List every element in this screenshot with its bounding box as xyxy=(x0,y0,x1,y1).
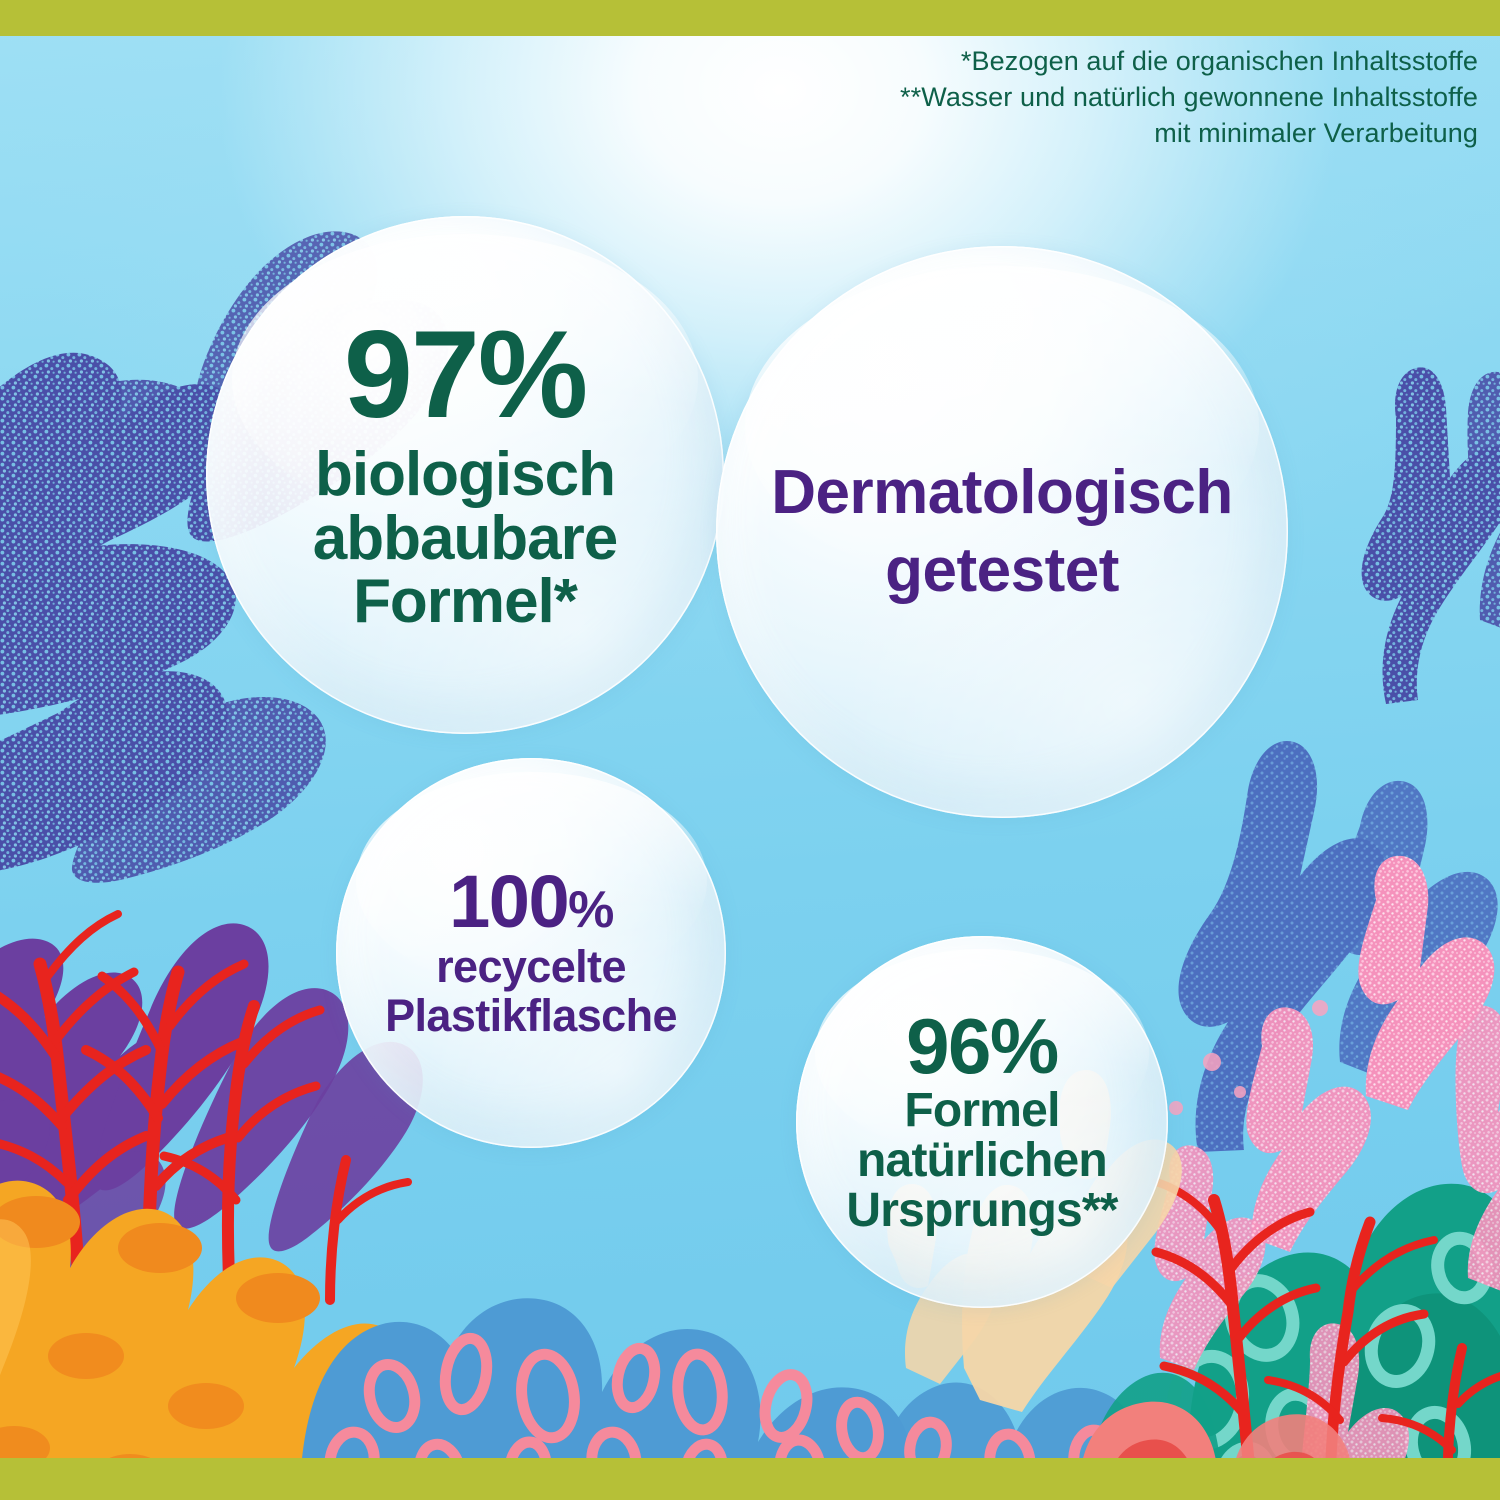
claim-subline-recycled-bottle-2: Plastikflasche xyxy=(385,990,677,1041)
claim-subline-natural-origin-1: Formel xyxy=(904,1084,1059,1137)
footnote-line-3: mit minimaler Verarbeitung xyxy=(900,116,1478,152)
claim-derm-line-1: Dermatologisch xyxy=(771,458,1233,527)
claim-derm-line-2: getestet xyxy=(885,536,1119,605)
claim-text-biodegradable: 97% biologisch abbaubare Formel* xyxy=(313,316,618,635)
infographic-canvas: *Bezogen auf die organischen Inhaltsstof… xyxy=(0,0,1500,1500)
claim-bubble-biodegradable: 97% biologisch abbaubare Formel* xyxy=(206,216,724,734)
claim-subline-biodegradable-3: Formel* xyxy=(353,567,577,636)
claim-bubble-recycled-bottle: 100% recycelte Plastikflasche xyxy=(336,758,726,1148)
claim-subline-biodegradable-2: abbaubare xyxy=(313,504,618,573)
claim-headline-dermatologically-tested: Dermatologisch getestet xyxy=(771,454,1233,610)
footnote-line-2: **Wasser und natürlich gewonnene Inhalts… xyxy=(900,80,1478,116)
claim-bubble-natural-origin: 96% Formel natürlichen Ursprungs** xyxy=(796,936,1168,1308)
claim-text-recycled-bottle: 100% recycelte Plastikflasche xyxy=(385,865,677,1040)
claim-headline-natural-origin: 96% xyxy=(846,1008,1117,1084)
claim-subline-natural-origin-3: Ursprungs** xyxy=(846,1184,1117,1237)
claim-subline-recycled-bottle: recycelte Plastikflasche xyxy=(385,943,677,1040)
claim-subline-natural-origin-2: natürlichen xyxy=(857,1134,1107,1187)
coral-reef-illustration xyxy=(0,0,1500,1500)
bottom-brand-bar xyxy=(0,1458,1500,1500)
claim-subline-recycled-bottle-1: recycelte xyxy=(436,941,626,992)
claim-subline-biodegradable: biologisch abbaubare Formel* xyxy=(313,443,618,635)
footnote-line-1: *Bezogen auf die organischen Inhaltsstof… xyxy=(900,44,1478,80)
claim-value-recycled-bottle: 100 xyxy=(449,860,568,943)
footnotes-block: *Bezogen auf die organischen Inhaltsstof… xyxy=(900,44,1478,152)
claim-headline-recycled-bottle: 100% xyxy=(385,865,677,939)
claim-headline-biodegradable: 97% xyxy=(313,316,618,435)
top-brand-bar xyxy=(0,0,1500,36)
claim-bubble-dermatologically-tested: Dermatologisch getestet xyxy=(716,246,1288,818)
claim-unit-recycled-bottle: % xyxy=(568,881,613,939)
claim-subline-natural-origin: Formel natürlichen Ursprungs** xyxy=(846,1086,1117,1236)
claim-text-dermatologically-tested: Dermatologisch getestet xyxy=(771,454,1233,610)
claim-text-natural-origin: 96% Formel natürlichen Ursprungs** xyxy=(846,1008,1117,1236)
claim-subline-biodegradable-1: biologisch xyxy=(315,440,615,509)
